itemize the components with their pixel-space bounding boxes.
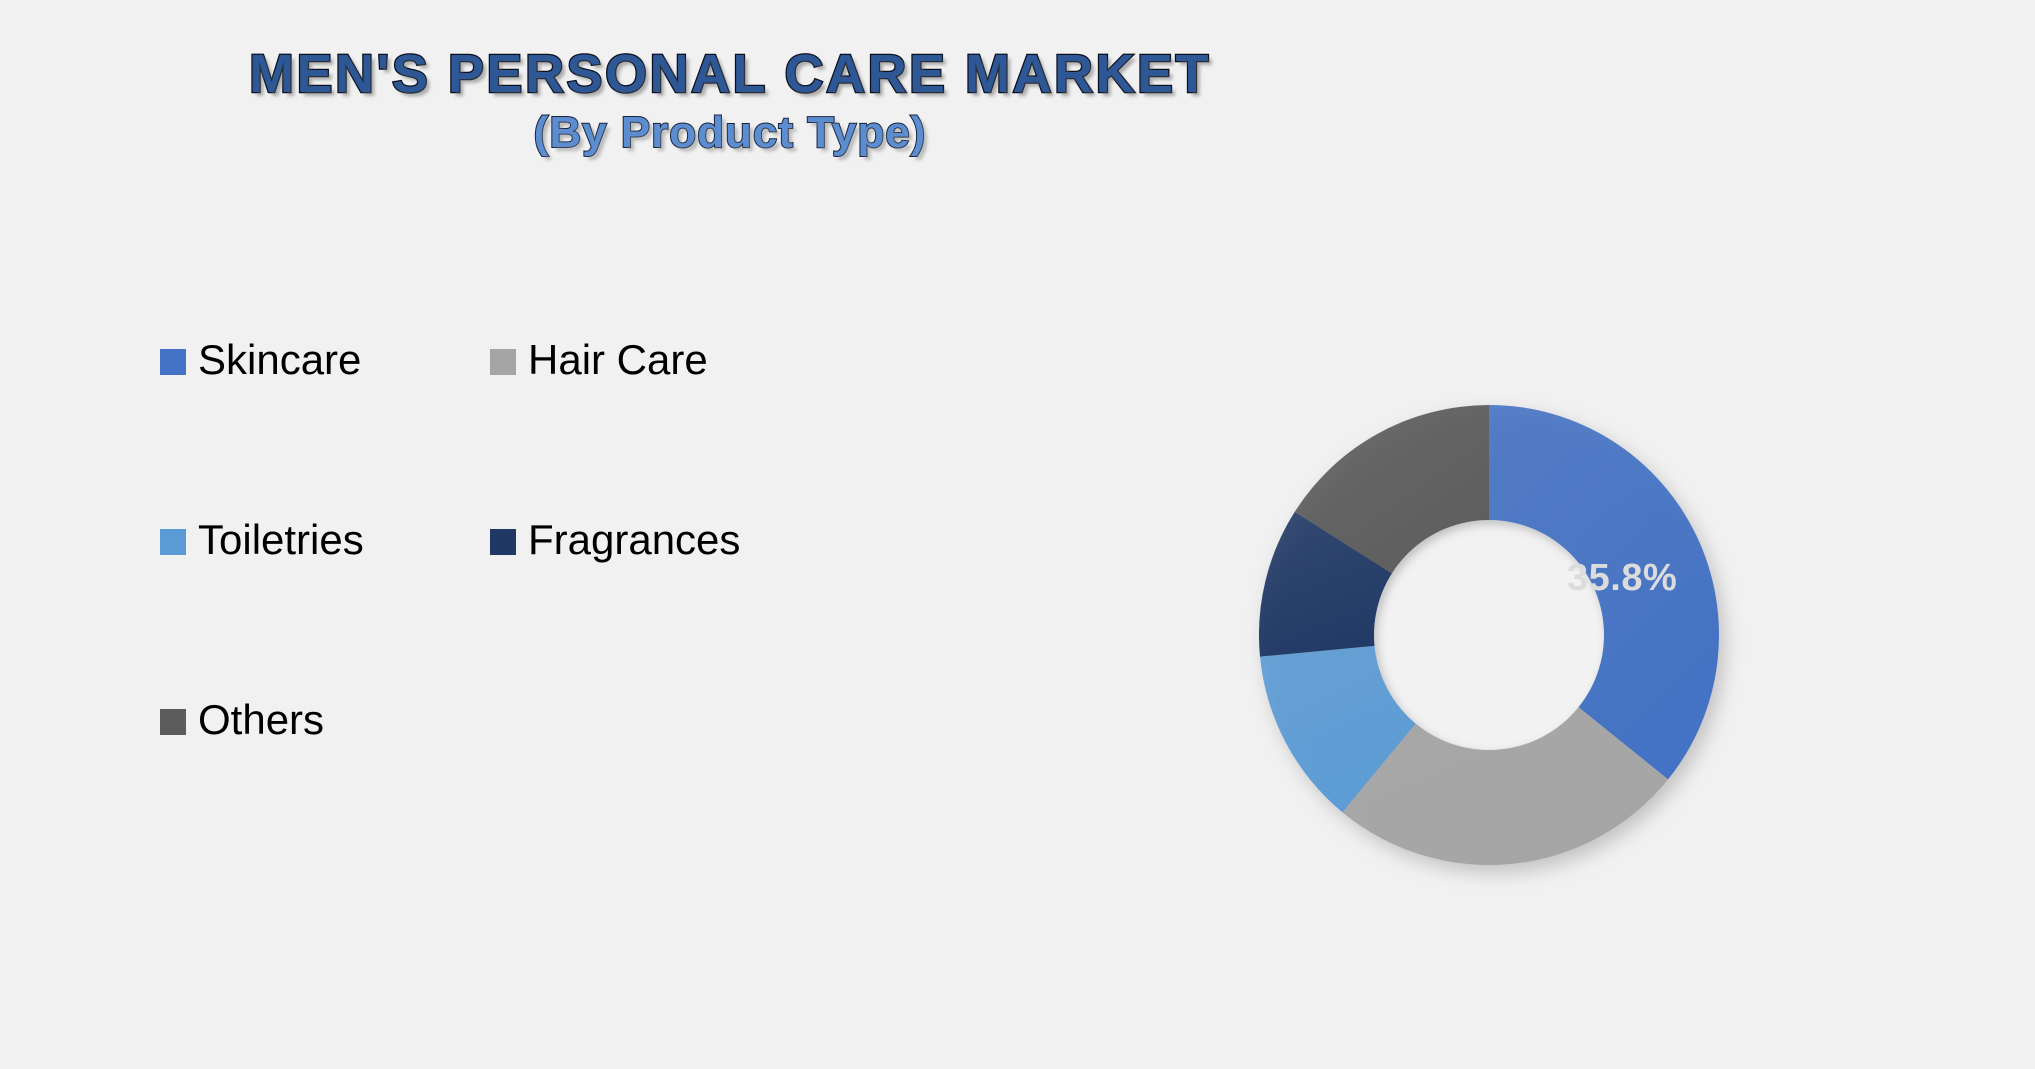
page-title: MEN'S PERSONAL CARE MARKET — [0, 44, 1460, 104]
legend-item-skincare[interactable]: Skincare — [160, 330, 490, 390]
legend-item-others[interactable]: Others — [160, 690, 490, 750]
donut-chart: 35.8% — [1259, 405, 1719, 865]
legend-swatch-icon — [490, 349, 516, 375]
chart-title-block: MEN'S PERSONAL CARE MARKET (By Product T… — [0, 44, 1460, 159]
slice-data-label-skincare: 35.8% — [1567, 557, 1677, 600]
legend-item-label: Toiletries — [198, 519, 364, 561]
chart-legend: Skincare Hair Care Toiletries Fragrances… — [160, 330, 820, 870]
legend-item-hair-care[interactable]: Hair Care — [490, 330, 820, 390]
legend-item-label: Hair Care — [528, 339, 708, 381]
legend-row: Toiletries Fragrances — [160, 510, 820, 690]
legend-swatch-icon — [160, 349, 186, 375]
legend-item-label: Skincare — [198, 339, 361, 381]
legend-row: Skincare Hair Care — [160, 330, 820, 510]
legend-swatch-icon — [160, 529, 186, 555]
legend-item-label: Fragrances — [528, 519, 740, 561]
legend-item-toiletries[interactable]: Toiletries — [160, 510, 490, 570]
legend-swatch-icon — [160, 709, 186, 735]
legend-item-label: Others — [198, 699, 324, 741]
donut-center-hole — [1374, 520, 1604, 750]
legend-item-fragrances[interactable]: Fragrances — [490, 510, 820, 570]
legend-row: Others — [160, 690, 820, 870]
page-subtitle: (By Product Type) — [0, 108, 1460, 159]
legend-swatch-icon — [490, 529, 516, 555]
